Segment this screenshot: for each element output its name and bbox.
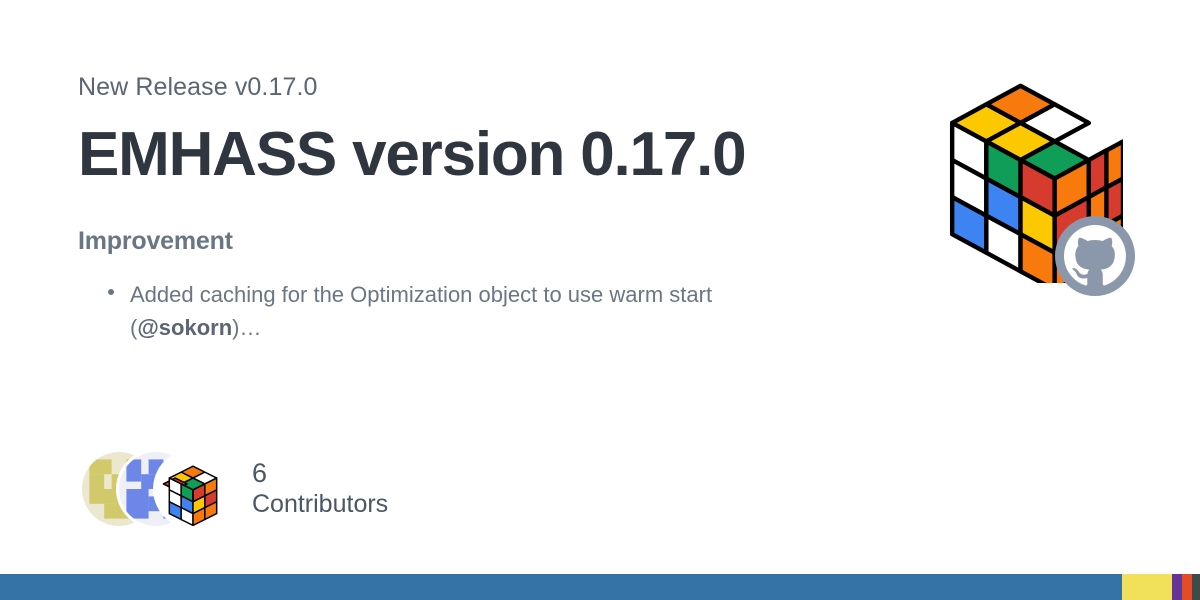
contributors-count: 6: [252, 458, 388, 490]
avatar-stack: [82, 452, 230, 526]
contributors-count-wrap: 6 Contributors: [252, 458, 388, 519]
contributors-label: Contributors: [252, 490, 388, 520]
bullet-dot-icon: [108, 289, 114, 295]
footer-segment-purple: [1172, 574, 1182, 600]
release-eyebrow: New Release v0.17.0: [78, 72, 878, 102]
footer-segment-yellow: [1122, 574, 1172, 600]
release-content: New Release v0.17.0 EMHASS version 0.17.…: [78, 72, 878, 345]
footer-segment-blue: [0, 574, 1122, 600]
changelog-text-tail: )…: [232, 315, 261, 340]
footer-segment-orange: [1182, 574, 1192, 600]
release-card: New Release v0.17.0 EMHASS version 0.17.…: [0, 0, 1200, 600]
changelog-list: Added caching for the Optimization objec…: [78, 278, 878, 345]
avatar-rubiks-cube[interactable]: [156, 452, 230, 526]
language-color-bar: [0, 574, 1200, 600]
footer-segment-slate: [1192, 574, 1200, 600]
github-octocat-icon: [1055, 216, 1135, 296]
list-item: Added caching for the Optimization objec…: [130, 278, 830, 345]
page-title: EMHASS version 0.17.0: [78, 122, 878, 189]
mention-link[interactable]: @sokorn: [137, 315, 232, 340]
section-heading-improvement: Improvement: [78, 227, 878, 256]
contributors-block: 6 Contributors: [82, 452, 388, 526]
